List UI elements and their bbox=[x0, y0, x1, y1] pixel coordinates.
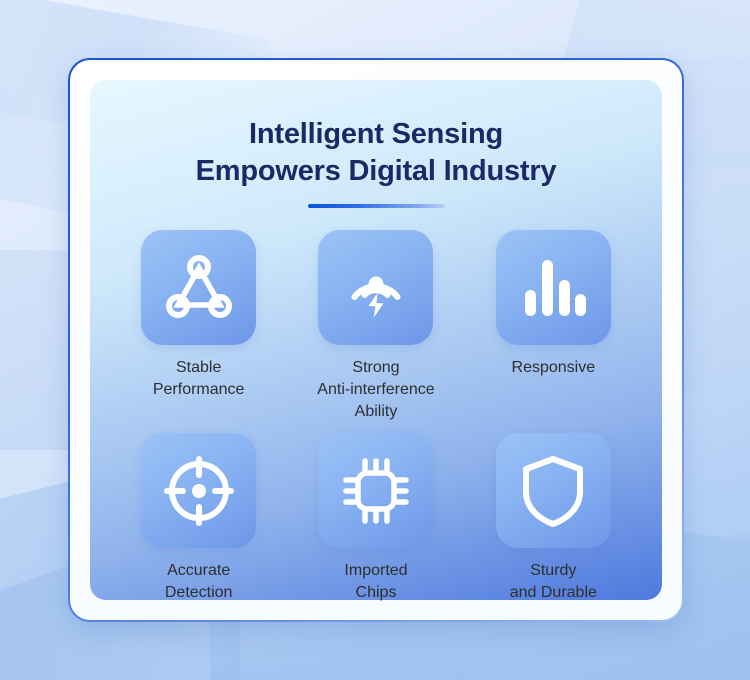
feature-icon-tile bbox=[141, 433, 256, 548]
feature-grid: Stable Performance Strong Anti-interfere… bbox=[110, 230, 642, 604]
crosshair-target-icon bbox=[163, 455, 235, 527]
feature-item-imported-chips: Imported Chips bbox=[287, 433, 464, 604]
feature-label: Strong Anti-interference Ability bbox=[317, 357, 434, 423]
feature-icon-tile bbox=[318, 230, 433, 345]
feature-label: Imported Chips bbox=[344, 560, 407, 604]
feature-label: Sturdy and Durable bbox=[510, 560, 597, 604]
feature-icon-tile bbox=[496, 433, 611, 548]
page-title: Intelligent Sensing Empowers Digital Ind… bbox=[70, 116, 682, 208]
signal-waves-bolt-icon bbox=[340, 251, 412, 325]
page-title-line-1: Intelligent Sensing bbox=[70, 116, 682, 153]
feature-icon-tile bbox=[141, 230, 256, 345]
feature-item-sturdy-durable: Sturdy and Durable bbox=[465, 433, 642, 604]
shield-icon bbox=[521, 454, 585, 528]
microchip-icon bbox=[341, 456, 411, 526]
triangle-network-icon bbox=[163, 254, 235, 322]
feature-icon-tile bbox=[496, 230, 611, 345]
title-underline bbox=[308, 204, 445, 208]
feature-item-accurate-detection: Accurate Detection bbox=[110, 433, 287, 604]
feature-label: Accurate Detection bbox=[165, 560, 233, 604]
feature-icon-tile bbox=[318, 433, 433, 548]
feature-label: Stable Performance bbox=[153, 357, 245, 401]
feature-label: Responsive bbox=[512, 357, 596, 379]
feature-item-stable-performance: Stable Performance bbox=[110, 230, 287, 423]
feature-item-responsive: Responsive bbox=[465, 230, 642, 423]
page-title-line-2: Empowers Digital Industry bbox=[70, 153, 682, 190]
feature-card: Intelligent Sensing Empowers Digital Ind… bbox=[68, 58, 684, 622]
feature-item-anti-interference: Strong Anti-interference Ability bbox=[287, 230, 464, 423]
bar-levels-icon bbox=[519, 257, 587, 319]
